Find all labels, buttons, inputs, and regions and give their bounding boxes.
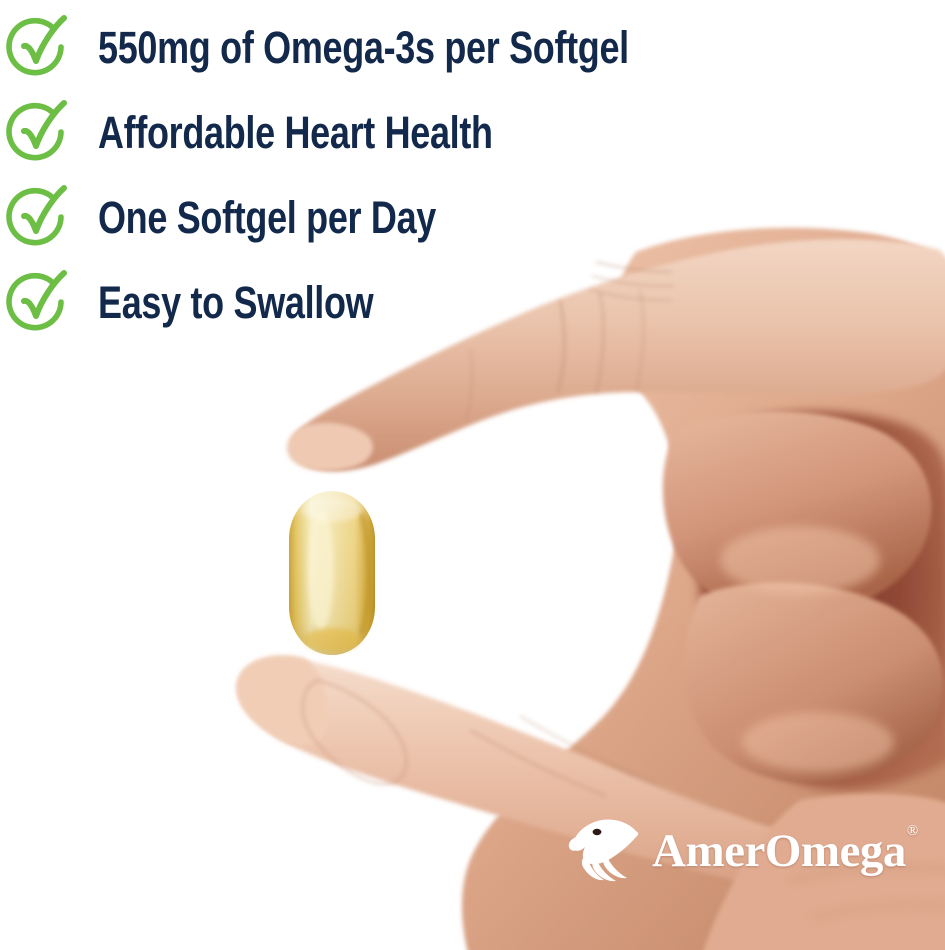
feature-bullet-2: Affordable Heart Health bbox=[0, 97, 591, 167]
feature-bullet-label: Easy to Swallow bbox=[98, 280, 373, 325]
product-marketing-image: 550mg of Omega-3s per Softgel Affordable… bbox=[0, 0, 945, 950]
feature-bullet-3: One Softgel per Day bbox=[0, 182, 521, 252]
brand-wordmark: AmerOmega® bbox=[652, 828, 917, 875]
eagle-head-icon bbox=[566, 815, 648, 887]
feature-bullet-label: One Softgel per Day bbox=[98, 195, 436, 240]
check-circle-icon bbox=[6, 186, 68, 248]
omega-3-softgel-capsule bbox=[287, 488, 377, 658]
registered-trademark-icon: ® bbox=[907, 823, 918, 839]
feature-bullet-label: 550mg of Omega-3s per Softgel bbox=[98, 25, 629, 70]
brand-logo: AmerOmega® bbox=[566, 812, 896, 890]
feature-bullet-4: Easy to Swallow bbox=[0, 267, 442, 337]
feature-bullet-1: 550mg of Omega-3s per Softgel bbox=[0, 12, 762, 82]
check-circle-icon bbox=[6, 271, 68, 333]
check-circle-icon bbox=[6, 16, 68, 78]
brand-name: AmerOmega bbox=[652, 825, 906, 877]
feature-bullet-label: Affordable Heart Health bbox=[98, 110, 493, 155]
check-circle-icon bbox=[6, 101, 68, 163]
